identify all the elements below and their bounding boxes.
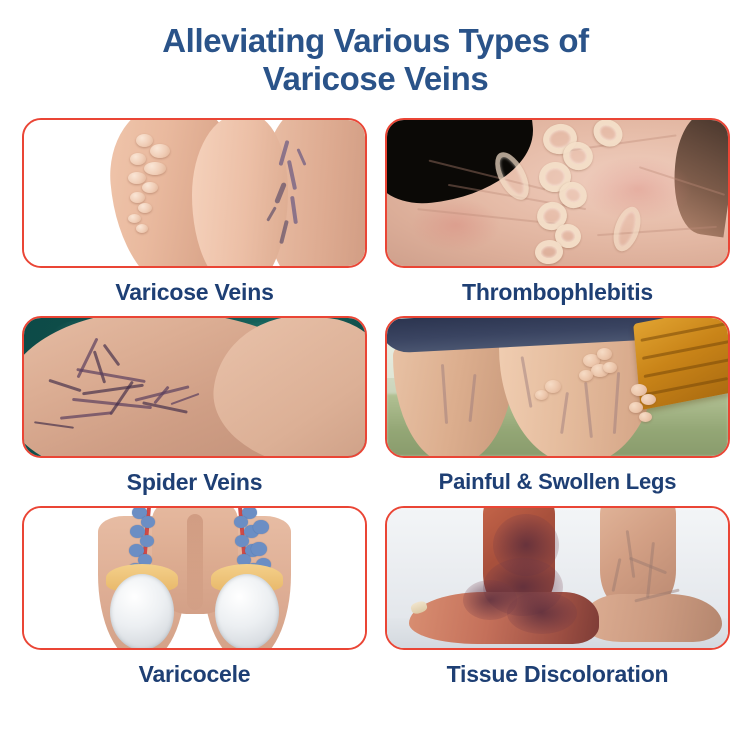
- thrombophlebitis-photo: [387, 120, 728, 266]
- painful-swollen-legs-photo: [387, 318, 728, 456]
- card-painful-swollen-legs-image-frame: [385, 316, 730, 458]
- card-tissue-discoloration[interactable]: Tissue Discoloration: [385, 506, 730, 698]
- card-varicose-veins-caption: Varicose Veins: [22, 268, 367, 316]
- card-row-1: Varicose Veins: [22, 118, 730, 316]
- varicocele-illustration: [24, 508, 365, 648]
- card-painful-swollen-legs-caption: Painful & Swollen Legs: [385, 458, 730, 505]
- card-varicocele-image-frame: [22, 506, 367, 650]
- card-tissue-discoloration-caption: Tissue Discoloration: [385, 650, 730, 698]
- tissue-discoloration-photo: [387, 508, 728, 648]
- page-title-line-2: Varicose Veins: [0, 60, 751, 98]
- card-varicose-veins[interactable]: Varicose Veins: [22, 118, 367, 316]
- card-varicocele[interactable]: Varicocele: [22, 506, 367, 698]
- card-varicose-veins-image-frame: [22, 118, 367, 268]
- varicose-veins-photo: [24, 120, 365, 266]
- card-tissue-discoloration-image-frame: [385, 506, 730, 650]
- card-spider-veins-image-frame: [22, 316, 367, 458]
- card-thrombophlebitis-caption: Thrombophlebitis: [385, 268, 730, 316]
- card-row-2: Spider Veins: [22, 316, 730, 506]
- page-title-line-1: Alleviating Various Types of: [0, 22, 751, 60]
- card-spider-veins[interactable]: Spider Veins: [22, 316, 367, 506]
- infographic-page: Alleviating Various Types of Varicose Ve…: [0, 0, 751, 752]
- card-row-3: Varicocele: [22, 506, 730, 698]
- card-grid: Varicose Veins: [22, 118, 730, 698]
- page-title: Alleviating Various Types of Varicose Ve…: [0, 22, 751, 98]
- card-thrombophlebitis[interactable]: Thrombophlebitis: [385, 118, 730, 316]
- card-varicocele-caption: Varicocele: [22, 650, 367, 698]
- card-thrombophlebitis-image-frame: [385, 118, 730, 268]
- spider-veins-photo: [24, 318, 365, 456]
- card-spider-veins-caption: Spider Veins: [22, 458, 367, 506]
- card-painful-swollen-legs[interactable]: Painful & Swollen Legs: [385, 316, 730, 506]
